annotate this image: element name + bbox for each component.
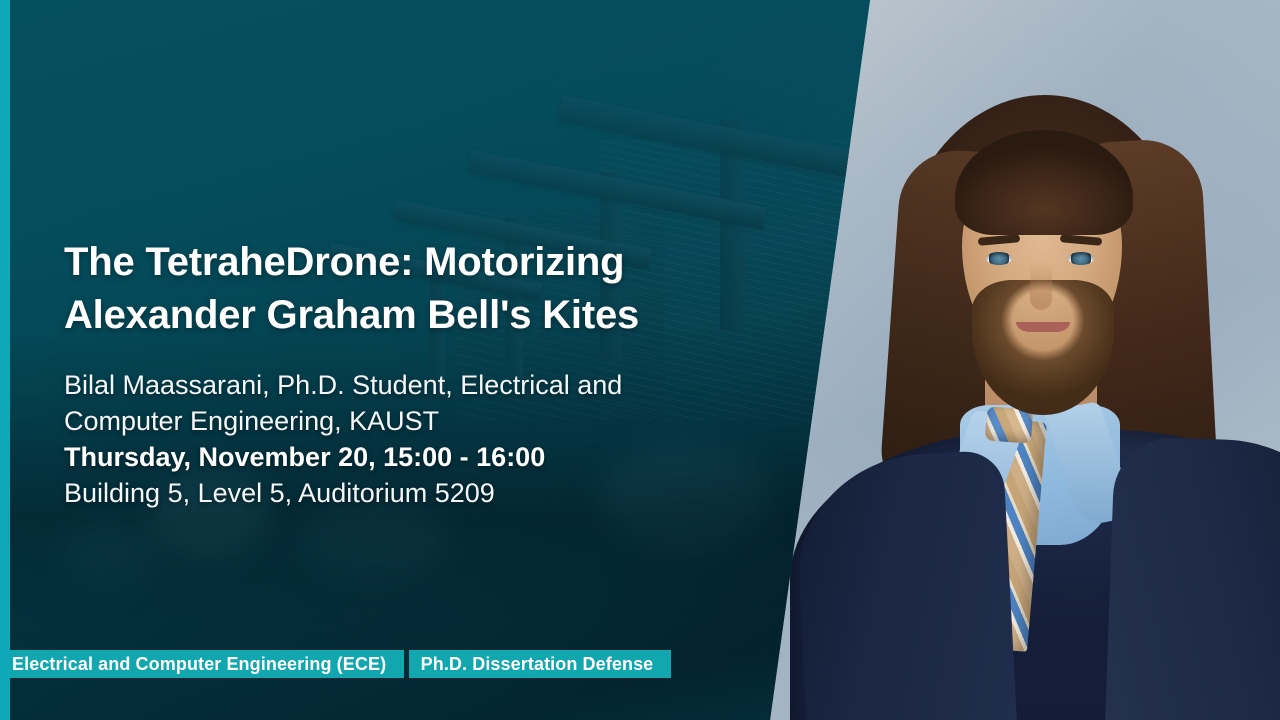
eye-right: [1068, 252, 1094, 265]
nose: [1030, 262, 1052, 310]
suit-lapel-left: [793, 450, 1017, 720]
detail-speaker-line-1: Bilal Maassarani, Ph.D. Student, Electri…: [64, 367, 744, 403]
suit-lapel-right: [1105, 436, 1280, 720]
detail-datetime: Thursday, November 20, 15:00 - 16:00: [64, 439, 744, 475]
detail-location: Building 5, Level 5, Auditorium 5209: [64, 475, 744, 511]
eye-left: [986, 252, 1012, 265]
status-badge-event-type: Ph.D. Dissertation Defense: [409, 650, 672, 678]
title-line-2: Alexander Graham Bell's Kites: [64, 293, 639, 337]
text-block: The TetraheDrone: Motorizing Alexander G…: [64, 236, 744, 511]
mouth: [1016, 322, 1070, 332]
status-badge-department: Electrical and Computer Engineering (ECE…: [0, 650, 404, 678]
page-title: The TetraheDrone: Motorizing Alexander G…: [64, 236, 744, 342]
badge-group: Electrical and Computer Engineering (ECE…: [0, 650, 671, 683]
title-line-1: The TetraheDrone: Motorizing: [64, 240, 624, 284]
seminar-announcement-slide: The TetraheDrone: Motorizing Alexander G…: [0, 0, 1280, 720]
event-details: Bilal Maassarani, Ph.D. Student, Electri…: [64, 367, 744, 511]
accent-stripe: [0, 0, 10, 720]
detail-speaker-line-2: Computer Engineering, KAUST: [64, 403, 744, 439]
